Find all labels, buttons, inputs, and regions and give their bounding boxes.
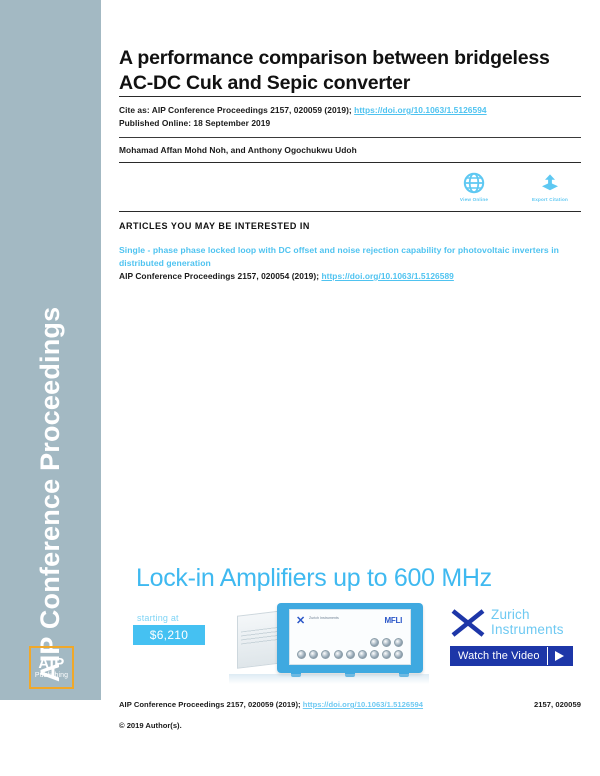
product-model-label: MFLI <box>385 616 402 625</box>
aip-logo-main-text: AIP <box>38 656 64 671</box>
footer-citation-row: AIP Conference Proceedings 2157, 020059 … <box>119 700 581 709</box>
journal-name: AIP Conference Proceedings <box>0 0 101 700</box>
footer-citation: AIP Conference Proceedings 2157, 020059 … <box>119 700 423 709</box>
citation-line: Cite as: AIP Conference Proceedings 2157… <box>119 104 581 117</box>
zurich-instruments-brand: Zurich Instruments <box>491 607 564 637</box>
related-cite-volume: 2157 <box>237 271 256 281</box>
brand-line-2: Instruments <box>491 622 564 637</box>
watch-video-label: Watch the Video <box>451 647 547 665</box>
product-front-panel: ✕ Zurich Instruments MFLI <box>289 609 411 665</box>
related-doi-link[interactable]: https://doi.org/10.1063/1.5126589 <box>321 271 453 281</box>
main-content: A performance comparison between bridgel… <box>119 0 581 776</box>
brand-line-1: Zurich <box>491 607 564 622</box>
authors-line: Mohamad Affan Mohd Noh, and Anthony Ogoc… <box>119 145 581 155</box>
product-image: ✕ Zurich Instruments MFLI <box>237 603 423 675</box>
play-icon <box>548 647 572 665</box>
article-actions: View Online Export Citation <box>119 163 581 211</box>
play-triangle <box>555 651 564 661</box>
connector-icon <box>297 650 306 659</box>
connector-icon <box>382 650 391 659</box>
product-connector-group-mid <box>334 650 367 659</box>
export-citation-action[interactable]: Export Citation <box>527 172 573 202</box>
aip-logo-sub-text: Publishing <box>35 671 68 680</box>
connector-icon <box>321 650 330 659</box>
page-footer: AIP Conference Proceedings 2157, 020059 … <box>119 700 581 730</box>
ad-price-badge: $6,210 <box>133 625 205 645</box>
connector-icon <box>394 638 403 647</box>
product-brand-text: Zurich Instruments <box>309 616 339 621</box>
connector-icon <box>346 650 355 659</box>
connector-icon <box>358 650 367 659</box>
citation-volume: 2157 <box>270 105 289 115</box>
connector-icon <box>370 650 379 659</box>
product-connector-grid <box>370 638 404 660</box>
citation-article-number: , 020059 (2019); <box>289 105 354 115</box>
article-doi-link[interactable]: https://doi.org/10.1063/1.5126594 <box>354 105 486 115</box>
product-chassis-front: ✕ Zurich Instruments MFLI <box>277 603 423 673</box>
related-articles-heading: ARTICLES YOU MAY BE INTERESTED IN <box>119 212 581 231</box>
related-cite-prefix: AIP Conference Proceedings <box>119 271 237 281</box>
ad-headline: Lock-in Amplifiers up to 600 MHz <box>136 564 492 593</box>
citation-prefix: Cite as: AIP Conference Proceedings <box>119 105 270 115</box>
export-upload-icon <box>539 172 561 194</box>
view-online-action[interactable]: View Online <box>451 172 497 202</box>
globe-icon <box>463 172 485 194</box>
connector-icon <box>394 650 403 659</box>
connector-icon <box>334 650 343 659</box>
related-article-item[interactable]: Single - phase phase locked loop with DC… <box>119 231 581 281</box>
product-brand-x-icon: ✕ <box>296 616 307 627</box>
related-article-citation: AIP Conference Proceedings 2157, 020054 … <box>119 271 581 281</box>
footer-copyright: © 2019 Author(s). <box>119 721 581 730</box>
product-reflection <box>229 674 429 684</box>
related-cite-article-number: , 020054 (2019); <box>256 271 321 281</box>
authors-block: Mohamad Affan Mohd Noh, and Anthony Ogoc… <box>119 138 581 162</box>
product-connector-group-left <box>297 650 330 659</box>
advertisement-banner[interactable]: Lock-in Amplifiers up to 600 MHz startin… <box>119 556 581 684</box>
ad-starting-label: starting at <box>137 613 179 623</box>
view-online-label: View Online <box>460 197 488 202</box>
export-citation-label: Export Citation <box>532 197 568 202</box>
watch-video-button[interactable]: Watch the Video <box>450 646 573 666</box>
footer-page-reference: 2157, 020059 <box>534 700 581 709</box>
footer-doi-link[interactable]: https://doi.org/10.1063/1.5126594 <box>303 700 423 709</box>
published-online-line: Published Online: 18 September 2019 <box>119 117 581 130</box>
zurich-instruments-logo-icon <box>450 608 486 638</box>
connector-icon <box>382 638 391 647</box>
article-title: A performance comparison between bridgel… <box>119 46 581 96</box>
related-article-title[interactable]: Single - phase phase locked loop with DC… <box>119 244 581 269</box>
citation-block: Cite as: AIP Conference Proceedings 2157… <box>119 97 581 137</box>
footer-cite-prefix: AIP Conference Proceedings 2157, 020059 … <box>119 700 303 709</box>
connector-icon <box>309 650 318 659</box>
document-page: AIP Conference Proceedings AIP Publishin… <box>0 0 600 776</box>
journal-sidebar: AIP Conference Proceedings AIP Publishin… <box>0 0 101 700</box>
connector-icon <box>370 638 379 647</box>
aip-publishing-logo: AIP Publishing <box>29 646 74 689</box>
